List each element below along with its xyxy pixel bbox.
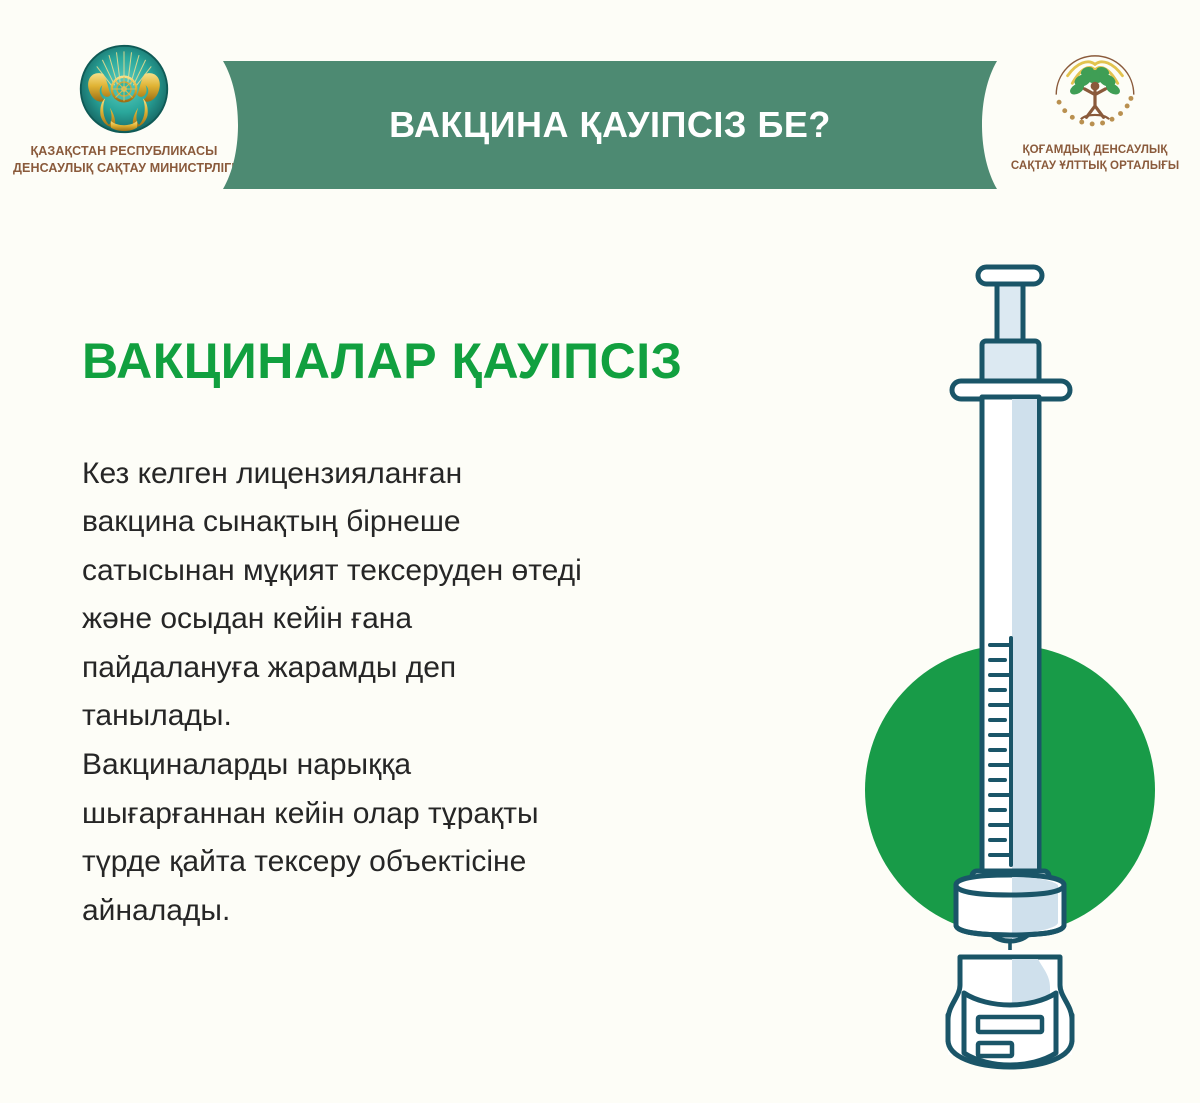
ministry-logo-label: ҚАЗАҚСТАН РЕСПУБЛИКАСЫ ДЕНСАУЛЫҚ САҚТАУ … [8,143,240,177]
banner-ribbon-shape [215,55,1005,195]
public-health-center-logo: ҚОҒАМДЫҚ ДЕНСАУЛЫҚ САҚТАУ ҰЛТТЫҚ ОРТАЛЫҒ… [1000,36,1190,175]
illustration-svg [860,245,1190,1075]
national-public-health-center-emblem-icon [1043,36,1147,140]
kazakhstan-state-emblem-icon [77,42,171,136]
syringe-and-vaccine-vial-illustration [860,245,1190,1075]
ministry-logo: ҚАЗАҚСТАН РЕСПУБЛИКАСЫ ДЕНСАУЛЫҚ САҚТАУ … [8,42,240,177]
infographic-page: ҚАЗАҚСТАН РЕСПУБЛИКАСЫ ДЕНСАУЛЫҚ САҚТАУ … [0,0,1200,1103]
header-banner: ВАКЦИНА ҚАУІПСІЗ БЕ? [215,55,1005,195]
vial-label-bar-1 [978,1017,1042,1032]
vial-label-bar-2 [978,1043,1012,1056]
syringe-thumb-pad [978,267,1042,284]
public-health-center-logo-label: ҚОҒАМДЫҚ ДЕНСАУЛЫҚ САҚТАУ ҰЛТТЫҚ ОРТАЛЫҒ… [1000,143,1190,175]
page-title: ВАКЦИНАЛАР ҚАУІПСІЗ [82,335,842,388]
syringe-plunger-rod [997,283,1023,343]
syringe-plunger-head [982,341,1039,383]
main-content: ВАКЦИНАЛАР ҚАУІПСІЗ Кез келген лицензиял… [82,335,842,935]
header: ҚАЗАҚСТАН РЕСПУБЛИКАСЫ ДЕНСАУЛЫҚ САҚТАУ … [0,0,1200,215]
body-paragraph: Кез келген лицензияланған вакцина сынақт… [82,450,842,936]
